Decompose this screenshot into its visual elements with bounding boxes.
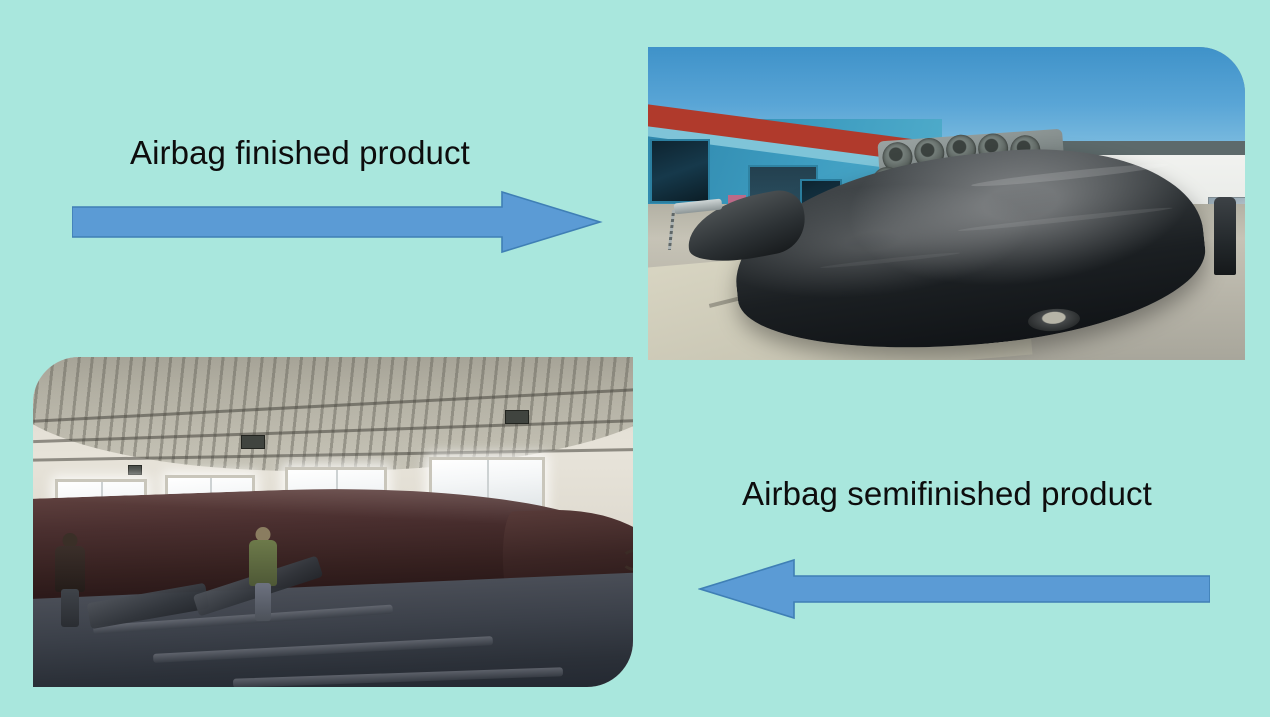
worker xyxy=(249,527,277,623)
arrow-left-to-semifinished-product[interactable] xyxy=(698,556,1210,622)
ceiling-lamp xyxy=(241,435,265,449)
arrow-left-icon xyxy=(698,556,1210,622)
arrow-right-to-finished-product[interactable] xyxy=(72,188,604,256)
ceiling-lamp xyxy=(128,465,142,475)
person-standing xyxy=(1214,197,1236,275)
worker xyxy=(55,533,85,629)
slide-canvas: Airbag finished product Airbag semifinis… xyxy=(0,0,1270,717)
caption-airbag-finished-product: Airbag finished product xyxy=(130,135,470,171)
airbag-semifinished-product-photo[interactable] xyxy=(33,357,633,687)
caption-airbag-semifinished-product: Airbag semifinished product xyxy=(742,476,1152,512)
airbag-finished-product-photo[interactable] xyxy=(648,47,1245,360)
blue-building-window xyxy=(650,139,710,203)
arrow-right-icon xyxy=(72,188,604,256)
ceiling-lamp xyxy=(505,410,529,424)
